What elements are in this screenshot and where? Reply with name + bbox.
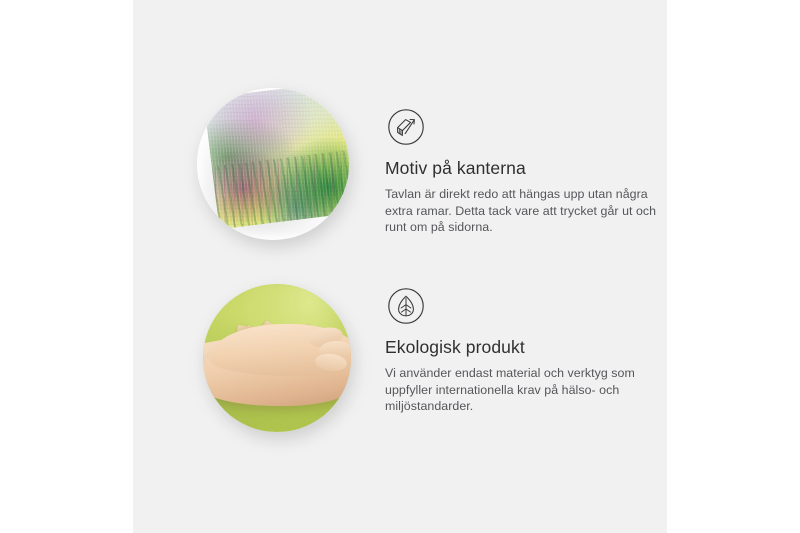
photo-backdrop bbox=[197, 88, 349, 240]
content-panel: Motiv på kanterna Tavlan är direkt redo … bbox=[133, 0, 667, 533]
product-feature-panel: Motiv på kanterna Tavlan är direkt redo … bbox=[0, 0, 800, 533]
leaf-icon bbox=[387, 287, 425, 325]
feature-description: Tavlan är direkt redo att hängas upp uta… bbox=[385, 186, 657, 236]
feature-title: Ekologisk produkt bbox=[385, 336, 657, 358]
canvas-print-corner-photo bbox=[197, 88, 349, 240]
photo-backdrop bbox=[203, 284, 351, 432]
feature-description: Vi använder endast material och verktyg … bbox=[385, 365, 657, 415]
feature-text-ekologisk-produkt: Ekologisk produkt Vi använder endast mat… bbox=[385, 287, 657, 415]
feature-title: Motiv på kanterna bbox=[385, 157, 657, 179]
canvas-wrapped-edge-icon bbox=[387, 108, 425, 146]
canvas-artwork-surface bbox=[203, 88, 349, 229]
hands-holding-wood-chips-photo bbox=[203, 284, 351, 432]
feature-text-motiv-pa-kanterna: Motiv på kanterna Tavlan är direkt redo … bbox=[385, 108, 657, 236]
